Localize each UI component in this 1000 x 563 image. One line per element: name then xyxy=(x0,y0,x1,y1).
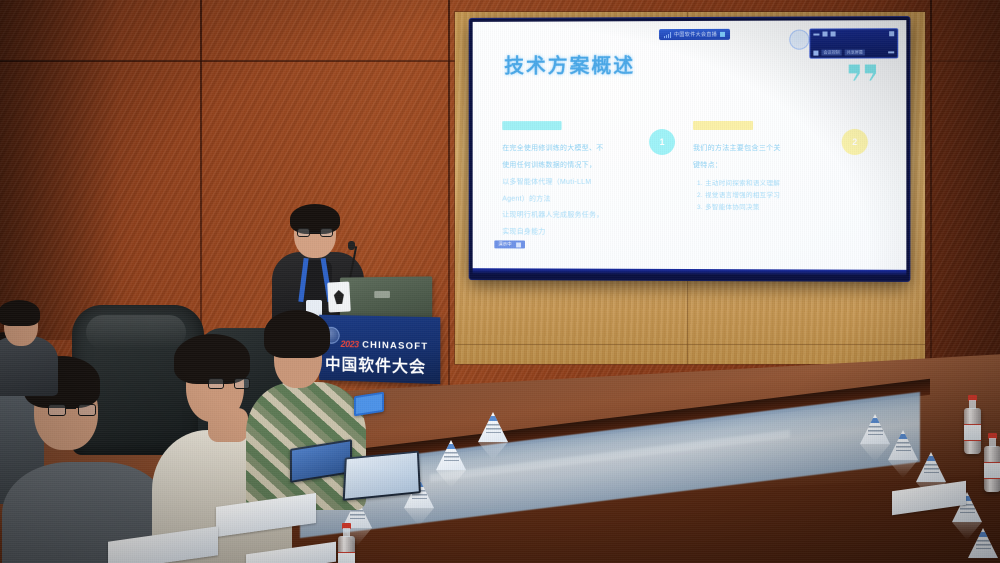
glasses-icon xyxy=(297,228,333,237)
list-item: 3. 多智能体协同决策 xyxy=(697,202,844,215)
widget-window-controls[interactable] xyxy=(813,31,894,36)
nameplate-text xyxy=(976,540,991,549)
broadcast-icon xyxy=(720,32,725,37)
yellow-tag-bar xyxy=(693,121,753,130)
bottle-label xyxy=(338,552,355,563)
nameplate-face xyxy=(478,412,508,442)
right-line-0: 我们的方法主要包含三个关 xyxy=(693,144,844,155)
phone-screen[interactable] xyxy=(356,394,382,414)
slide-live-pill: 中国软件大会直播 xyxy=(659,29,730,40)
audience-hair xyxy=(264,310,330,358)
marker-circle-2: 2 xyxy=(842,129,868,155)
nameplate-text xyxy=(444,452,459,461)
widget-buttons[interactable]: 会议控制 共享屏幕 xyxy=(813,49,894,55)
bottle-label xyxy=(964,424,981,441)
slide-footer-badge: 演示中 xyxy=(494,240,524,248)
nameplate-text xyxy=(486,424,501,433)
restore-icon[interactable] xyxy=(822,31,827,36)
left-line-2: 以多智能体代理（Muti-LLM xyxy=(502,178,651,189)
nameplate-text xyxy=(960,504,975,513)
nameplate-tab xyxy=(975,532,991,537)
widget-label-right[interactable]: 共享屏幕 xyxy=(845,49,865,55)
left-line-0: 在完全使用修训练的大模型、不 xyxy=(502,144,651,155)
screen-bottom-edge xyxy=(473,268,907,276)
nameplate-tab xyxy=(443,444,459,449)
sticker-shield-icon xyxy=(334,290,345,305)
nameplate xyxy=(916,452,946,482)
slide-title: 技术方案概述 xyxy=(504,49,635,78)
wall-shadow-left xyxy=(0,0,120,340)
signal-bars-icon xyxy=(664,32,671,38)
maximize-icon[interactable] xyxy=(831,31,836,36)
nameplate-face xyxy=(888,430,918,460)
conference-room-scene: 技术方案概述 中国软件大会直播 会议 xyxy=(0,0,1000,563)
mic-icon[interactable] xyxy=(813,50,818,55)
panel-seam xyxy=(455,344,925,345)
bottle-neck xyxy=(343,528,350,537)
minimize-icon[interactable] xyxy=(813,33,819,35)
globe-icon xyxy=(789,30,809,50)
presentation-display: 技术方案概述 中国软件大会直播 会议 xyxy=(470,17,910,281)
left-line-3: Agent）的方法 xyxy=(502,194,651,205)
tablet-screen[interactable] xyxy=(292,441,350,480)
widget-label-left[interactable]: 会议控制 xyxy=(821,50,841,56)
audience-hair xyxy=(0,300,40,326)
water-bottle xyxy=(964,408,981,454)
nameplate-tab xyxy=(867,418,883,423)
bottle-body xyxy=(984,446,1000,492)
list-item: 1. 主动时间探索和语义理解 xyxy=(697,178,844,191)
water-bottle xyxy=(984,446,1000,492)
nameplate xyxy=(968,528,998,558)
slide-footer-badge-label: 演示中 xyxy=(498,241,511,247)
nameplate-tab xyxy=(895,434,911,439)
nameplate-text xyxy=(350,510,365,519)
left-line-1: 使用任何训练数据的情况下， xyxy=(502,161,651,172)
quote-icon xyxy=(849,65,860,81)
glasses-icon xyxy=(48,404,96,415)
marker-circle-1: 1 xyxy=(649,129,675,155)
bottle-label xyxy=(984,462,1000,479)
nameplate xyxy=(478,412,508,442)
water-bottle xyxy=(338,536,355,563)
close-icon[interactable] xyxy=(889,31,894,36)
nameplate xyxy=(436,440,466,470)
audience-torso xyxy=(0,336,58,396)
bottle-body xyxy=(338,536,355,563)
nameplate-tab xyxy=(923,456,939,461)
nameplate-text xyxy=(924,464,939,473)
nameplate xyxy=(860,414,890,444)
laptop-logo xyxy=(374,291,390,298)
audience-hand xyxy=(208,408,248,442)
bottle-neck xyxy=(989,438,996,447)
nameplate-text xyxy=(868,426,883,435)
quote-mark-decoration xyxy=(849,64,876,80)
left-line-5: 实现自身能力 xyxy=(502,228,651,239)
slide-corner-widget: 会议控制 共享屏幕 xyxy=(809,28,898,58)
list-item: 2. 视觉语言增强的相互学习 xyxy=(697,190,844,203)
nameplate xyxy=(888,430,918,460)
slide-left-column: 在完全使用修训练的大模型、不 使用任何训练数据的情况下， 以多智能体代理（Mut… xyxy=(502,121,651,245)
nameplate-tab xyxy=(485,416,501,421)
cyan-tag-bar xyxy=(502,121,561,130)
audience-hair xyxy=(174,334,250,384)
slide-right-column: 我们的方法主要包含三个关 键特点： 1. 主动时间探索和语义理解 2. 视觉语言… xyxy=(693,121,844,215)
nameplate-face xyxy=(916,452,946,482)
microphone-icon xyxy=(348,241,355,250)
nameplate-face xyxy=(436,440,466,470)
right-numbered-list: 1. 主动时间探索和语义理解 2. 视觉语言增强的相互学习 3. 多智能体协同决… xyxy=(693,178,844,215)
bottle-body xyxy=(964,408,981,454)
banner-english-title: CHINASOFT xyxy=(362,340,428,353)
left-line-4: 让现明行机器人完成服务任务， xyxy=(502,211,651,222)
bottle-neck xyxy=(969,400,976,409)
laptop-sticker xyxy=(327,281,351,312)
glasses-icon xyxy=(208,378,250,388)
volume-icon[interactable] xyxy=(888,51,894,53)
badge-square-icon xyxy=(516,242,521,247)
slide-live-pill-label: 中国软件大会直播 xyxy=(674,31,717,38)
quote-icon xyxy=(865,64,876,80)
right-line-1: 键特点： xyxy=(693,161,844,172)
nameplate-face xyxy=(968,528,998,558)
nameplate-face xyxy=(860,414,890,444)
laptop-screen[interactable] xyxy=(345,453,419,499)
nameplate-text xyxy=(896,442,911,451)
laptop-device[interactable] xyxy=(343,451,421,501)
audience-member xyxy=(0,300,48,370)
slide-screen: 技术方案概述 中国软件大会直播 会议 xyxy=(473,20,907,276)
